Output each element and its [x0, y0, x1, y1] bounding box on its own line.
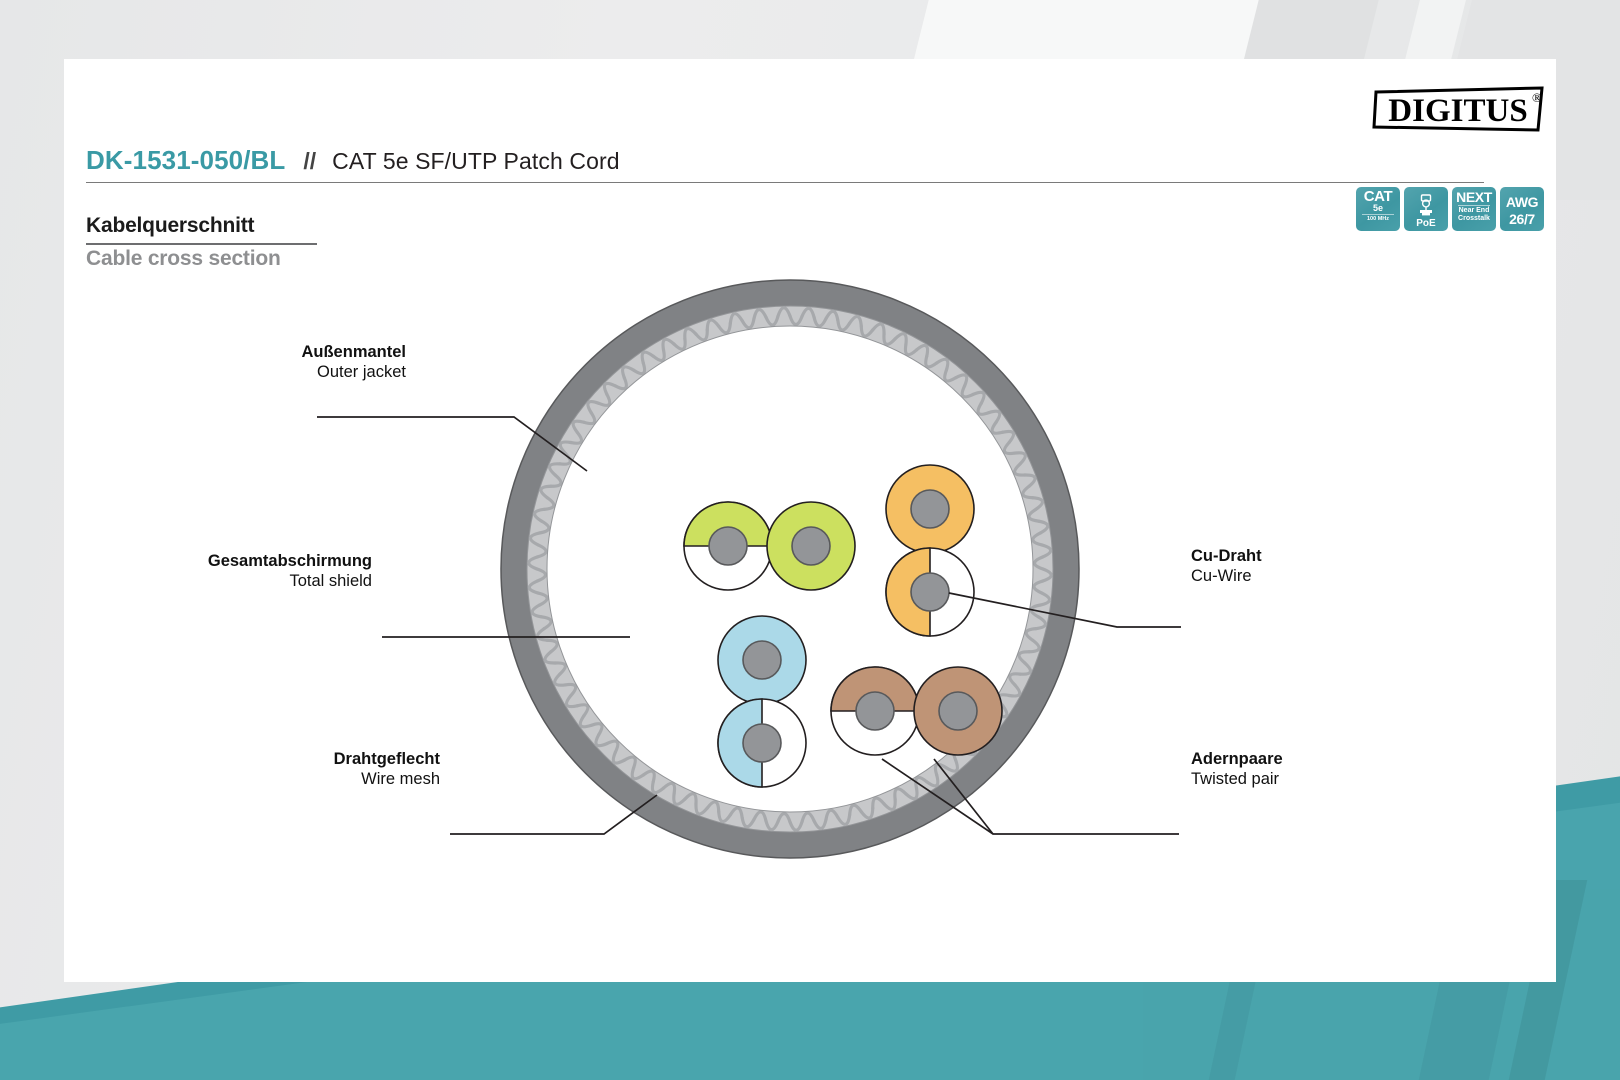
copper-core	[939, 692, 977, 730]
wire-brown-striped	[831, 667, 919, 755]
callout-total-shield-de: Gesamtabschirmung	[100, 551, 372, 571]
wire-green-solid	[767, 502, 855, 590]
copper-core	[911, 573, 949, 611]
callout-outer-jacket: Außenmantel Outer jacket	[216, 342, 406, 382]
callout-outer-jacket-de: Außenmantel	[216, 342, 406, 362]
callout-wire-mesh-de: Drahtgeflecht	[200, 749, 440, 769]
diagram-svg	[64, 59, 1556, 982]
callout-cu-wire-de: Cu-Draht	[1191, 546, 1421, 566]
copper-core	[743, 641, 781, 679]
callout-total-shield-en: Total shield	[100, 571, 372, 591]
callout-twisted-pair-de: Adernpaare	[1191, 749, 1421, 769]
callout-outer-jacket-en: Outer jacket	[216, 362, 406, 382]
callout-wire-mesh-en: Wire mesh	[200, 769, 440, 789]
wire-green-striped	[684, 502, 772, 590]
copper-core	[856, 692, 894, 730]
content-card: DIGITUS ® DK-1531-050/BL // CAT 5e SF/UT…	[64, 59, 1556, 982]
callout-cu-wire: Cu-Draht Cu-Wire	[1191, 546, 1421, 586]
copper-core	[743, 724, 781, 762]
cable-cross-section-diagram: Außenmantel Outer jacket Gesamtabschirmu…	[64, 59, 1556, 982]
callout-cu-wire-en: Cu-Wire	[1191, 566, 1421, 586]
callout-twisted-pair: Adernpaare Twisted pair	[1191, 749, 1421, 789]
wire-blue-striped	[718, 699, 806, 787]
callout-total-shield: Gesamtabschirmung Total shield	[100, 551, 372, 591]
wire-brown-solid	[914, 667, 1002, 755]
copper-core	[911, 490, 949, 528]
callout-wire-mesh: Drahtgeflecht Wire mesh	[200, 749, 440, 789]
wire-orange-solid	[886, 465, 974, 553]
copper-core	[792, 527, 830, 565]
callout-twisted-pair-en: Twisted pair	[1191, 769, 1421, 789]
wire-orange-striped	[886, 548, 974, 636]
wire-blue-solid	[718, 616, 806, 704]
slide-page: DIGITUS ® DK-1531-050/BL // CAT 5e SF/UT…	[0, 0, 1620, 1080]
copper-core	[709, 527, 747, 565]
